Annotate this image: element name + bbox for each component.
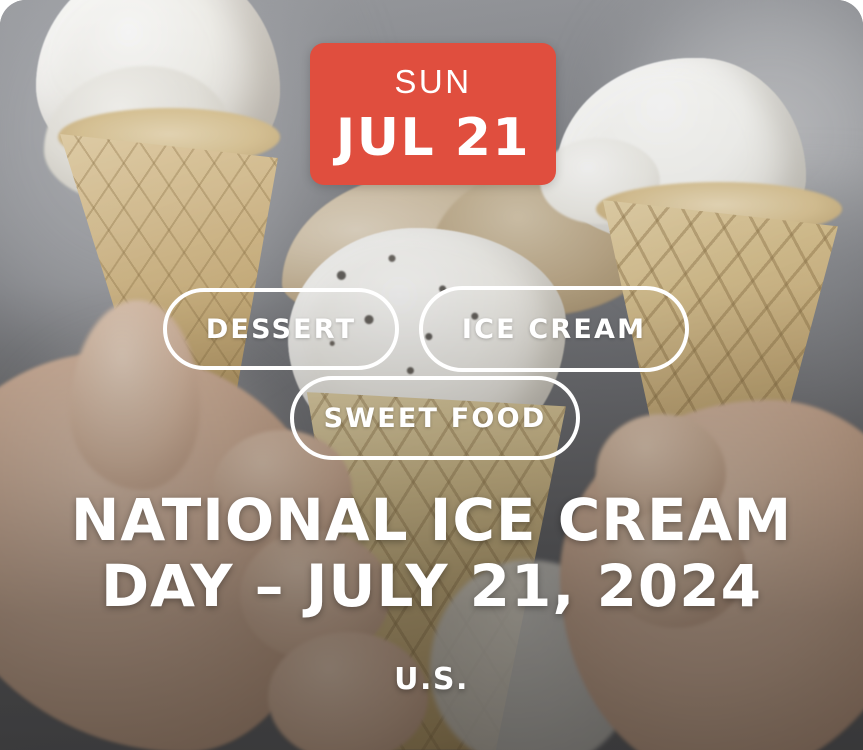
date-month-day: JUL 21 [336, 112, 530, 164]
page-title: NATIONAL ICE CREAM DAY – JULY 21, 2024 [0, 488, 863, 619]
tag-sweet-food[interactable]: SWEET FOOD [290, 376, 580, 460]
date-day-of-week: SUN [394, 65, 471, 98]
card-overlay: SUN JUL 21 DESSERT ICE CREAM SWEET FOOD … [0, 0, 863, 750]
tag-ice-cream[interactable]: ICE CREAM [419, 286, 689, 372]
tag-dessert[interactable]: DESSERT [163, 288, 399, 370]
headline-line-1: NATIONAL ICE CREAM [71, 486, 792, 554]
country-label: U.S. [0, 662, 863, 697]
date-badge: SUN JUL 21 [310, 43, 556, 185]
holiday-card: SUN JUL 21 DESSERT ICE CREAM SWEET FOOD … [0, 0, 863, 750]
headline-line-2: DAY – JULY 21, 2024 [0, 554, 863, 620]
